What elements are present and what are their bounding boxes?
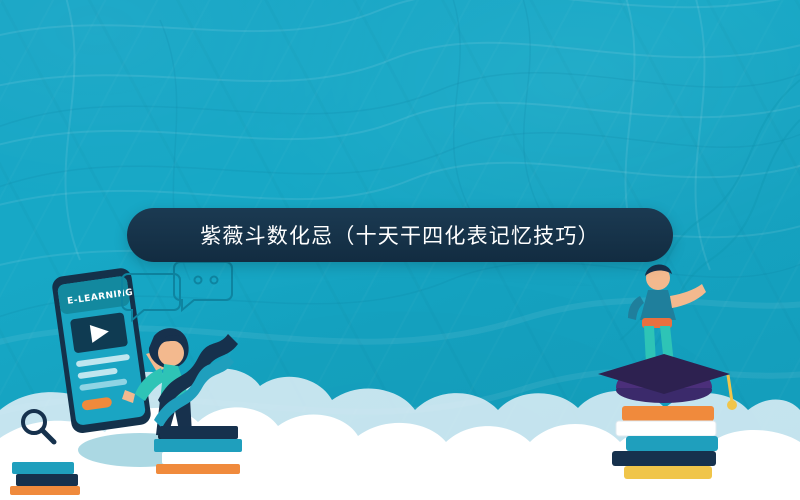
books-and-magnifier-icon [6, 400, 136, 495]
graduate-on-book-stack-icon [582, 250, 762, 485]
page-title: 紫薇斗数化忌（十天干四化表记忆技巧） [200, 220, 600, 250]
stacked-books-icon [150, 418, 270, 488]
page-title-pill: 紫薇斗数化忌（十天干四化表记忆技巧） [127, 208, 673, 262]
banner-root: E-LEARNING [0, 0, 800, 500]
